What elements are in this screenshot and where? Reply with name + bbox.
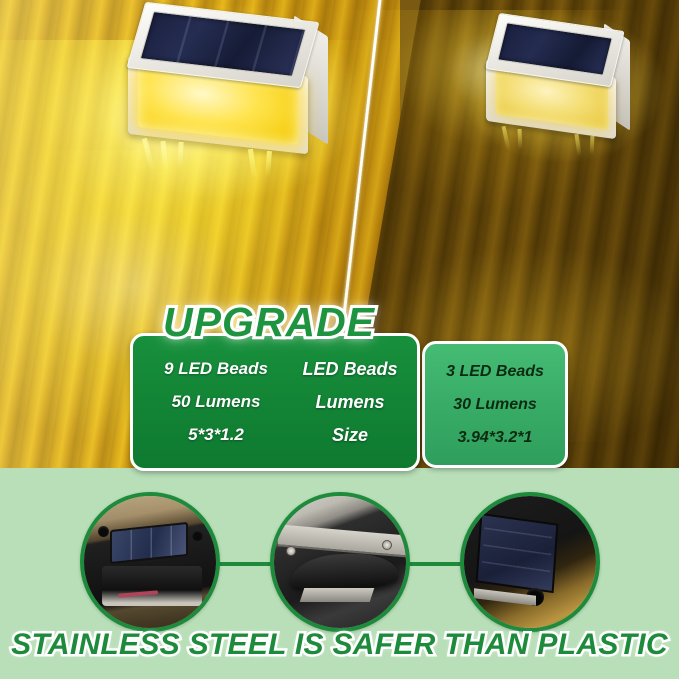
spec-row: 5*3*1.2 Size: [133, 419, 417, 452]
mounting-hole: [192, 530, 203, 541]
spec-label-lumens: Lumens: [291, 392, 409, 413]
metal-sheen: [300, 588, 375, 602]
bottom-banner-text: STAINLESS STEEL IS SAFER THAN PLASTIC: [0, 628, 679, 662]
product-comparison-image: UPGRADE 3 LED Beads 30 Lumens 3.94*3.2*1…: [0, 0, 679, 679]
screw-head: [286, 546, 296, 556]
photo-burnt-plastic-unit: [464, 496, 596, 628]
detail-photo-circle-2: [270, 492, 410, 632]
standard-led-beads: 3 LED Beads: [446, 363, 544, 381]
photo-melted-light-on-post: [84, 496, 216, 628]
spec-label-led-beads: LED Beads: [291, 359, 409, 380]
standard-size: 3.94*3.2*1: [458, 429, 533, 447]
exposed-internals: [102, 566, 202, 606]
standard-spec-panel: 3 LED Beads 30 Lumens 3.94*3.2*1: [422, 341, 568, 468]
spec-label-size: Size: [291, 425, 409, 446]
upgrade-headline: UPGRADE: [163, 299, 375, 346]
photo-warped-housing-underside: [274, 496, 406, 628]
solar-panel-detail: [476, 513, 559, 593]
spec-row: 9 LED Beads LED Beads: [133, 353, 417, 386]
upgraded-size: 5*3*1.2: [141, 425, 291, 445]
upgraded-spec-panel: 9 LED Beads LED Beads 50 Lumens Lumens 5…: [130, 333, 420, 471]
standard-lumens: 30 Lumens: [453, 396, 537, 414]
upgraded-led-beads: 9 LED Beads: [141, 359, 291, 379]
spec-row: 50 Lumens Lumens: [133, 386, 417, 419]
detail-photo-circle-3: [460, 492, 600, 632]
screw-head: [382, 540, 392, 550]
spec-row: 3 LED Beads: [425, 355, 565, 388]
upgraded-lumens: 50 Lumens: [141, 392, 291, 412]
spec-row: 30 Lumens: [425, 388, 565, 421]
solar-panel-detail: [110, 522, 188, 564]
solar-light-fixture-left: [118, 8, 333, 158]
detail-photo-circle-1: [80, 492, 220, 632]
solar-light-fixture-right: [480, 18, 640, 136]
spec-row: 3.94*3.2*1: [425, 421, 565, 454]
melted-plastic-area: [289, 551, 399, 593]
mounting-hole: [98, 526, 109, 537]
